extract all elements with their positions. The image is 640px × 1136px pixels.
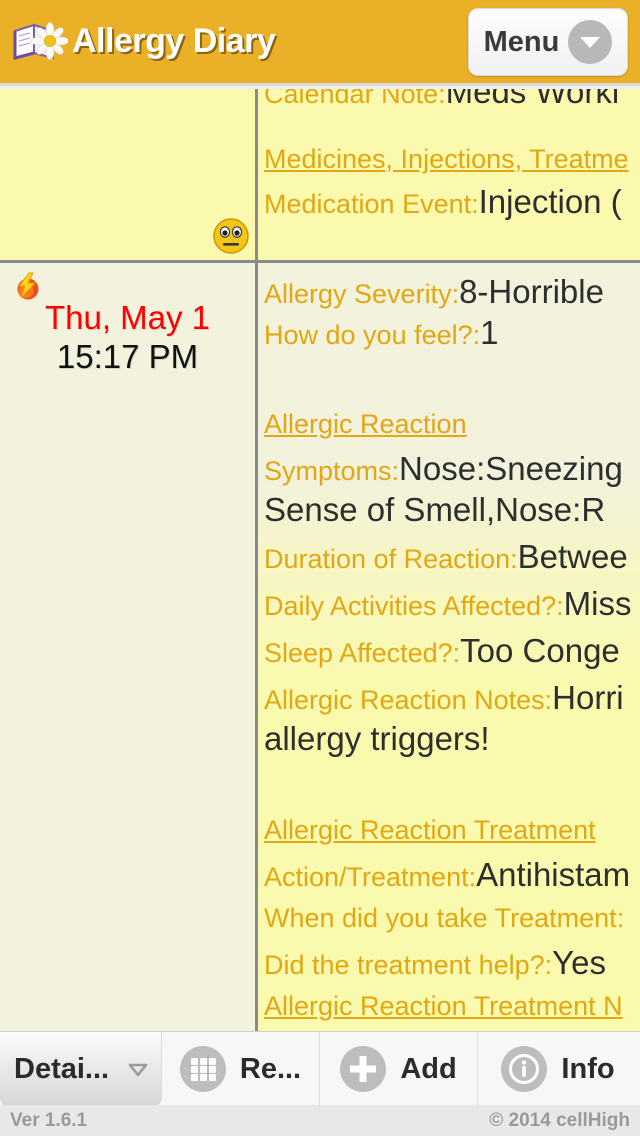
field-label: When did you take Treatment: xyxy=(264,903,624,933)
field-row: Allergic Reaction Treatment N xyxy=(264,993,640,1020)
neutral-face-icon xyxy=(211,216,251,256)
field-row: Duration of Reaction:Betwee xyxy=(264,540,640,573)
field-value: 8-Horrible xyxy=(459,273,604,310)
section-heading: Allergic Reaction Treatment xyxy=(264,817,640,844)
entry-detail-cell: Calendar Note:Meds Worki Medicines, Inje… xyxy=(258,89,640,260)
field-label: Allergic Reaction Notes: xyxy=(264,685,552,715)
field-row: Daily Activities Affected?:Miss xyxy=(264,587,640,620)
add-button-label: Add xyxy=(400,1053,456,1086)
diary-entry-list[interactable]: Calendar Note:Meds Worki Medicines, Inje… xyxy=(0,89,640,1045)
field-row: Sleep Affected?:Too Conge xyxy=(264,634,640,667)
info-button[interactable]: Info xyxy=(478,1032,638,1106)
field-row: allergy triggers! xyxy=(264,722,640,755)
field-row: Did the treatment help?:Yes xyxy=(264,946,640,979)
field-value: Nose:Sneezing xyxy=(399,450,623,487)
app-footer: Ver 1.6.1 © 2014 cellHigh xyxy=(0,1105,640,1136)
bottom-toolbar: Detai... xyxy=(0,1031,640,1105)
table-row[interactable]: Thu, May 1 15:17 PM Allergy Severity:8-H… xyxy=(0,263,640,1042)
field-label: Action/Treatment: xyxy=(264,862,476,892)
spacer xyxy=(264,108,640,134)
app-header: Allergy Diary Menu xyxy=(0,0,640,86)
field-row: Sense of Smell,Nose:R xyxy=(264,493,640,526)
field-label: Symptoms: xyxy=(264,456,399,486)
field-row: Calendar Note:Meds Worki xyxy=(264,89,640,108)
info-icon xyxy=(501,1046,547,1092)
field-row: Allergy Severity:8-Horrible xyxy=(264,275,640,308)
field-label: Sleep Affected?: xyxy=(264,638,460,668)
menu-button-label: Menu xyxy=(484,26,560,59)
field-value: Horri xyxy=(552,679,624,716)
caret-down-icon xyxy=(123,1054,153,1084)
copyright-label: © 2014 cellHigh xyxy=(489,1110,630,1132)
book-flower-icon xyxy=(12,19,68,65)
version-label: Ver 1.6.1 xyxy=(10,1110,87,1132)
field-value: Meds Worki xyxy=(446,89,620,110)
field-row: How do you feel?:1 xyxy=(264,316,640,349)
field-label: How do you feel?: xyxy=(264,320,480,350)
plus-icon xyxy=(340,1046,386,1092)
field-label: Duration of Reaction: xyxy=(264,544,518,574)
page-title: Allergy Diary xyxy=(72,22,275,61)
field-row: Symptoms:Nose:Sneezing xyxy=(264,452,640,485)
entry-date: Thu, May 1 xyxy=(0,299,255,338)
section-heading-label: Medicines, Injections, Treatme xyxy=(264,144,629,174)
add-button[interactable]: Add xyxy=(320,1032,478,1106)
app-root: Allergy Diary Menu xyxy=(0,0,640,1136)
field-row: Medication Event:Injection ( xyxy=(264,185,640,218)
info-button-label: Info xyxy=(561,1053,614,1086)
entry-time: 15:17 PM xyxy=(0,338,255,377)
field-row: Allergic Reaction Notes:Horri xyxy=(264,681,640,714)
section-heading-label: Allergic Reaction Treatment xyxy=(264,815,596,845)
section-heading-label: Allergic Reaction xyxy=(264,409,467,439)
field-row: When did you take Treatment: xyxy=(264,905,640,932)
field-value: Sense of Smell,Nose:R xyxy=(264,491,605,528)
reports-button[interactable]: Re... xyxy=(162,1032,320,1106)
field-value: Too Conge xyxy=(460,632,620,669)
field-value: Miss xyxy=(564,585,632,622)
grid-icon xyxy=(180,1046,226,1092)
field-label: Did the treatment help?: xyxy=(264,950,552,980)
section-heading: Medicines, Injections, Treatme xyxy=(264,146,640,173)
section-heading: Allergic Reaction xyxy=(264,411,640,438)
field-value: Injection ( xyxy=(479,183,622,220)
field-label: Daily Activities Affected?: xyxy=(264,591,564,621)
field-value: Antihistam xyxy=(476,856,630,893)
chevron-down-icon xyxy=(568,20,612,64)
table-row[interactable]: Calendar Note:Meds Worki Medicines, Inje… xyxy=(0,89,640,263)
field-label: Allergic Reaction Treatment N xyxy=(264,991,623,1021)
reports-button-label: Re... xyxy=(240,1053,301,1086)
field-value: allergy triggers! xyxy=(264,720,490,757)
entry-detail-cell: Allergy Severity:8-Horrible How do you f… xyxy=(258,263,640,1039)
entry-date-cell xyxy=(0,89,258,260)
field-row: Action/Treatment:Antihistam xyxy=(264,858,640,891)
field-label: Calendar Note: xyxy=(264,89,446,109)
entry-date-cell: Thu, May 1 15:17 PM xyxy=(0,263,258,1039)
field-value: 1 xyxy=(480,314,498,351)
fireball-icon xyxy=(12,271,42,301)
field-value: Yes xyxy=(552,944,606,981)
details-button[interactable]: Detai... xyxy=(0,1032,162,1106)
field-label: Medication Event: xyxy=(264,189,479,219)
field-value: Betwee xyxy=(518,538,628,575)
field-label: Allergy Severity: xyxy=(264,279,459,309)
details-button-label: Detai... xyxy=(14,1053,109,1086)
menu-button[interactable]: Menu xyxy=(468,8,628,76)
